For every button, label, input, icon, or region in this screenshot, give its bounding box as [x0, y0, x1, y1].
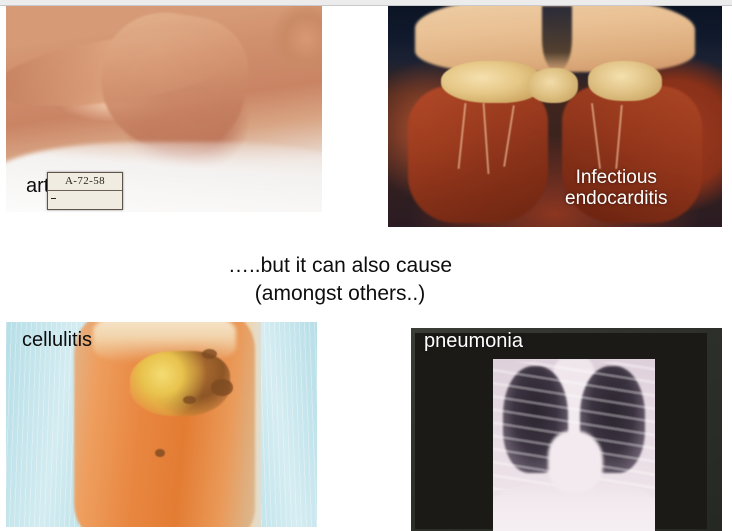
- slide-canvas: arthritis A-72-58 Infectious endocarditi…: [0, 0, 732, 531]
- image-cellulitis: [6, 322, 317, 527]
- caption-cellulitis: cellulitis: [22, 330, 92, 352]
- cellulitis-crust-3: [183, 396, 195, 404]
- specimen-label-card: A-72-58: [47, 172, 123, 210]
- center-text-line-2: (amongst others..): [0, 280, 680, 308]
- endocarditis-vegetation-left: [441, 61, 541, 103]
- center-text-line-1: …..but it can also cause: [0, 252, 680, 280]
- image-pneumonia: [411, 328, 722, 531]
- xray-diaphragm: [493, 479, 655, 531]
- image-infectious-endocarditis: [388, 6, 722, 227]
- pneumonia-chest-radiograph: [493, 359, 655, 531]
- endocarditis-vegetation-middle: [528, 68, 578, 103]
- endocarditis-vegetation-right: [588, 61, 661, 101]
- specimen-label-id: A-72-58: [48, 173, 122, 191]
- endocarditis-ventricle-left: [408, 86, 548, 223]
- center-text-block: …..but it can also cause (amongst others…: [0, 252, 680, 307]
- caption-pneumonia: pneumonia: [424, 331, 523, 353]
- caption-endocarditis-line2: endocarditis: [565, 189, 667, 210]
- cellulitis-drape-right: [261, 322, 317, 527]
- endocarditis-septal-notch: [542, 6, 572, 72]
- caption-endocarditis-line1: Infectious: [565, 168, 667, 189]
- arthritis-limb-lower: [91, 6, 256, 161]
- cellulitis-crust-4: [155, 449, 164, 457]
- caption-infectious-endocarditis: Infectious endocarditis: [565, 168, 667, 209]
- cellulitis-crust-2: [211, 379, 233, 395]
